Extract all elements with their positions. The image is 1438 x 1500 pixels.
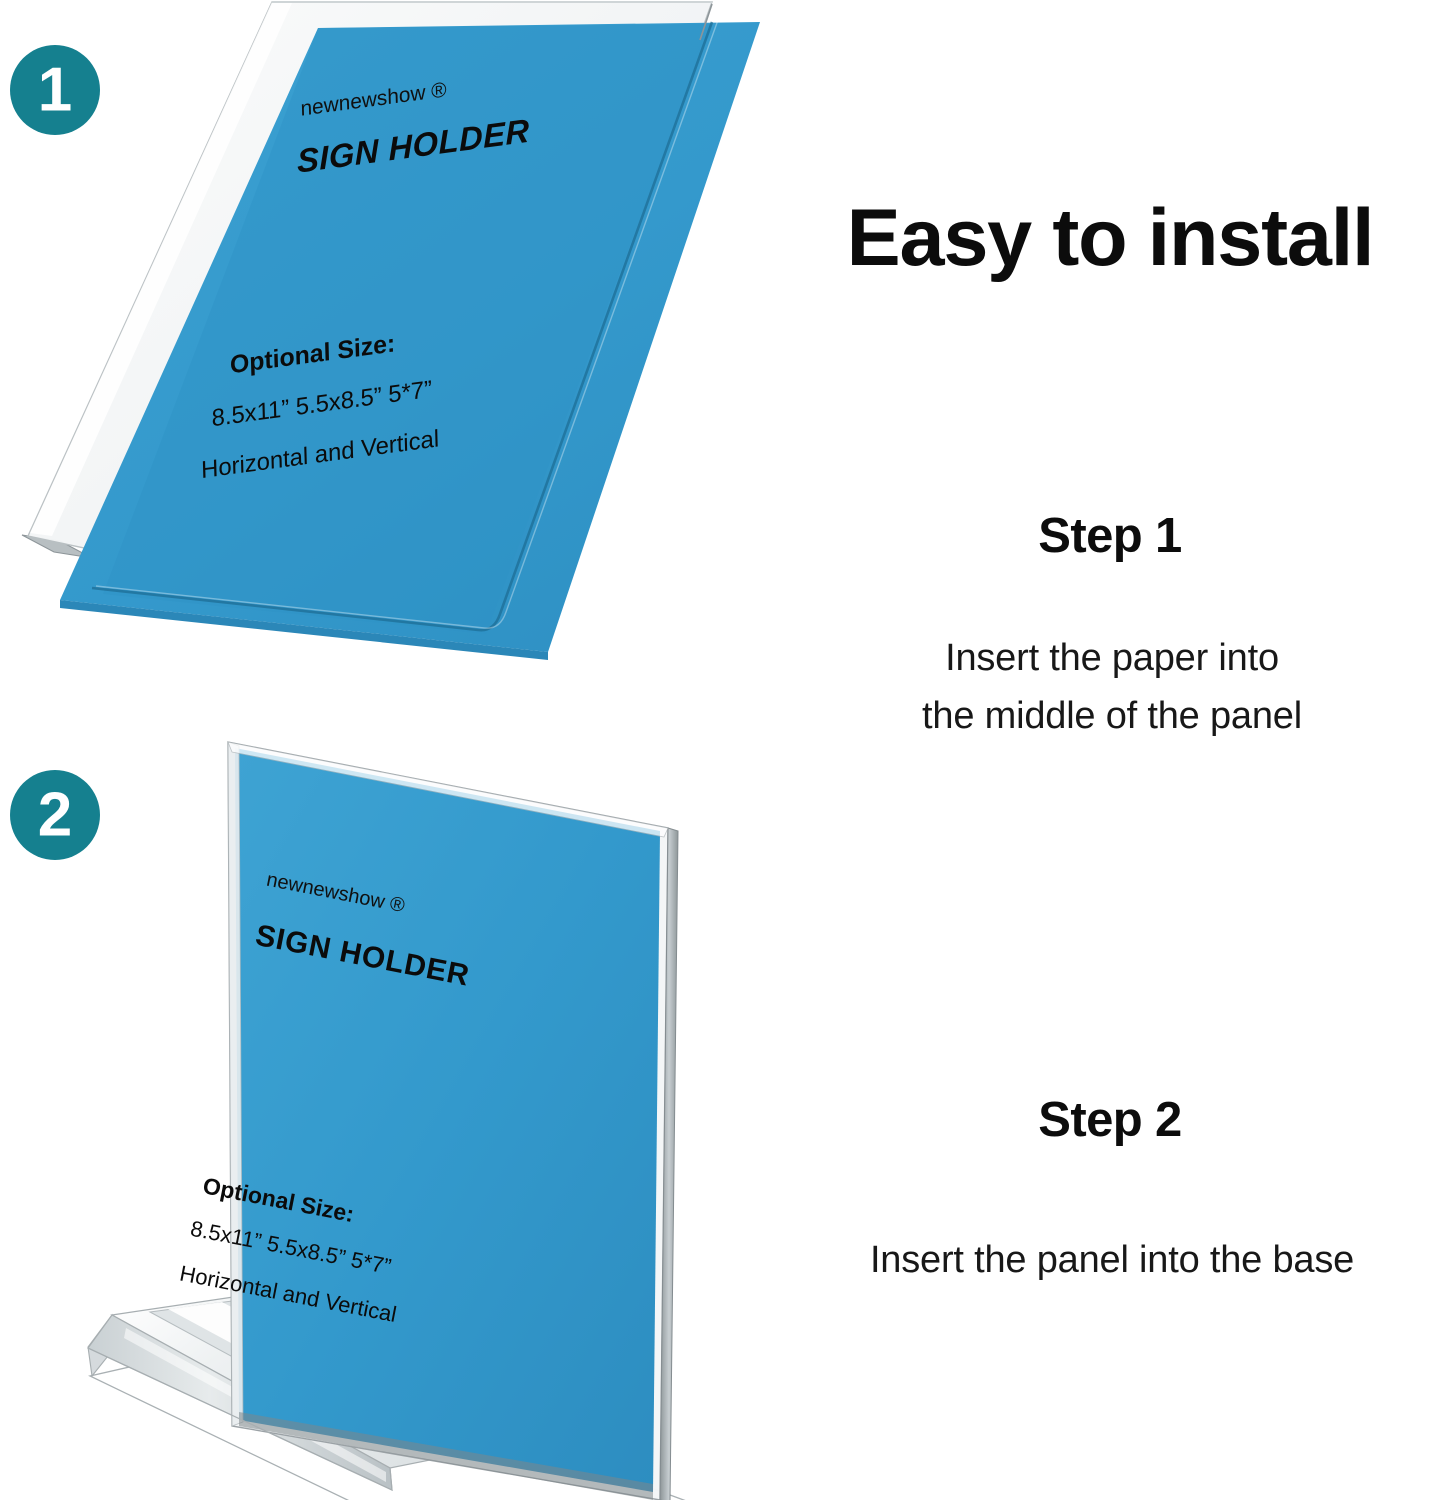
upright-sign-panel: [228, 742, 678, 1500]
step-2-title: Step 2: [790, 1096, 1430, 1145]
step-1-body-line-1: Insert the paper into: [808, 630, 1416, 688]
step-1-illustration: 1: [0, 0, 790, 700]
step-2-badge: 2: [10, 770, 100, 860]
step-2-body: Insert the panel into the base: [790, 1232, 1434, 1290]
step-1-badge: 1: [10, 45, 100, 135]
step-2-body-line-1: Insert the panel into the base: [792, 1232, 1432, 1290]
step-1-title: Step 1: [790, 512, 1430, 561]
page-headline: Easy to install: [790, 198, 1430, 279]
step-2-illustration: 2: [0, 700, 790, 1500]
step-1-badge-number: 1: [38, 56, 72, 125]
step-2-badge-number: 2: [38, 781, 72, 850]
infographic-page: 1: [0, 0, 1438, 1500]
step-1-body: Insert the paper into the middle of the …: [790, 630, 1434, 746]
text-column: Easy to install Step 1 Insert the paper …: [790, 0, 1438, 1500]
illustration-column: 1: [0, 0, 790, 1500]
step-1-body-line-2: the middle of the panel: [808, 688, 1416, 746]
